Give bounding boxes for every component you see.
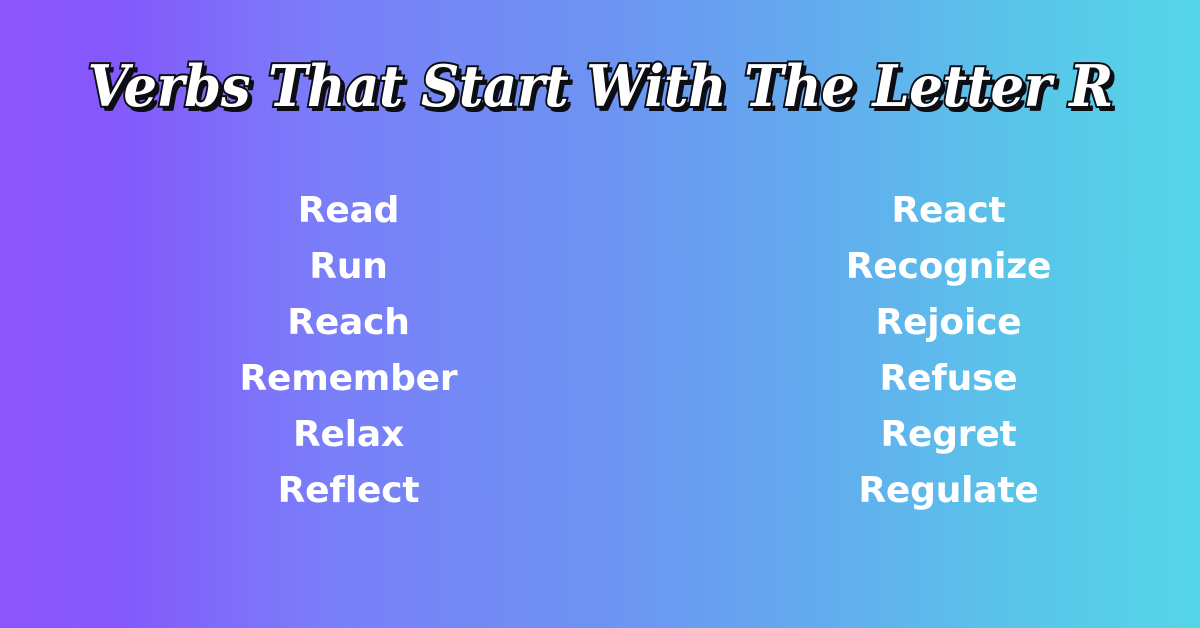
title-container: Verbs That Start With The Letter R	[0, 58, 1200, 116]
list-item: Recognize	[846, 239, 1052, 295]
poster-canvas: Verbs That Start With The Letter R Read …	[0, 0, 1200, 628]
list-item: Run	[309, 239, 387, 295]
list-item: Rejoice	[876, 295, 1022, 351]
right-column: React Recognize Rejoice Refuse Regret Re…	[697, 183, 1200, 519]
word-list-columns: Read Run Reach Remember Relax Reflect Re…	[0, 183, 1200, 519]
list-item: Regret	[880, 407, 1016, 463]
list-item: Reflect	[278, 463, 420, 519]
list-item: Relax	[293, 407, 404, 463]
list-item: Remember	[240, 351, 458, 407]
list-item: Refuse	[879, 351, 1017, 407]
left-column: Read Run Reach Remember Relax Reflect	[0, 183, 697, 519]
list-item: Regulate	[858, 463, 1038, 519]
list-item: Reach	[287, 295, 409, 351]
list-item: Read	[298, 183, 399, 239]
list-item: React	[892, 183, 1006, 239]
page-title: Verbs That Start With The Letter R	[87, 58, 1112, 116]
